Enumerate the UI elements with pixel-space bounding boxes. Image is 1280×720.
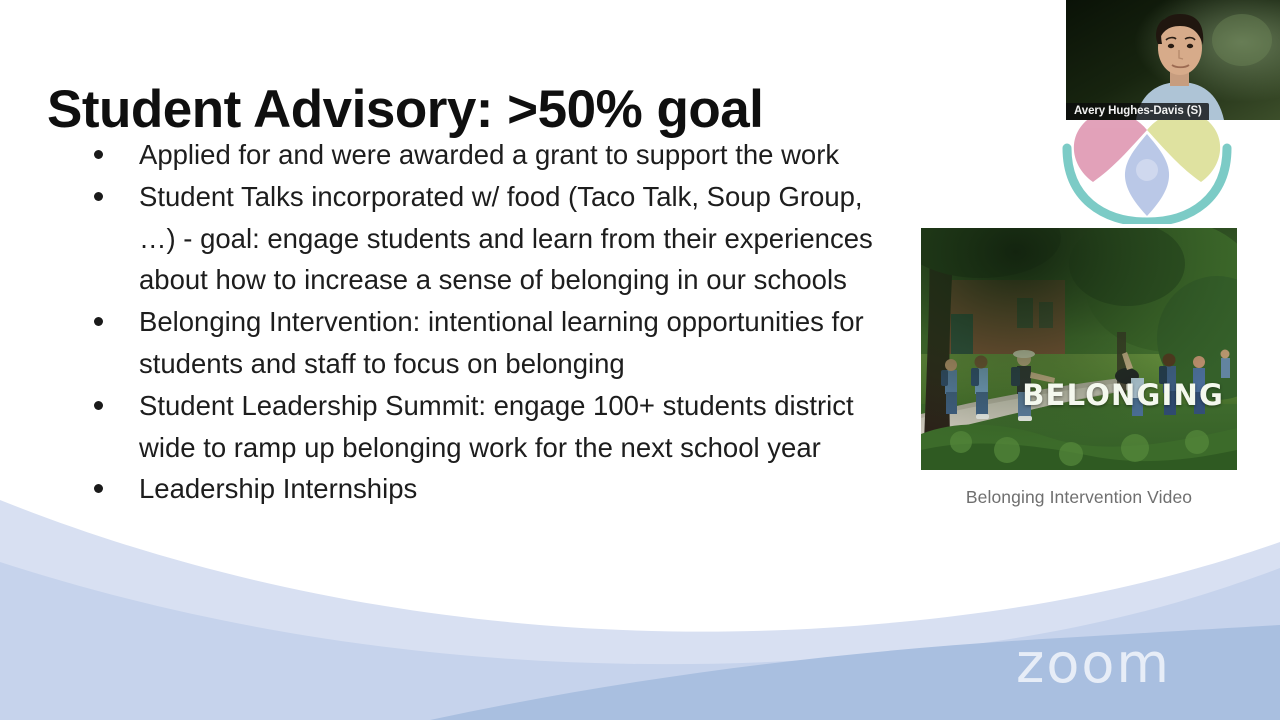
bullet-dot-icon — [94, 401, 103, 410]
list-item-text: Student Talks incorporated w/ food (Taco… — [139, 181, 873, 296]
list-item: Applied for and were awarded a grant to … — [86, 134, 886, 176]
participant-video-tile[interactable]: Avery Hughes-Davis (S) — [1066, 0, 1280, 120]
logo-lightbulb-icon — [1136, 159, 1158, 181]
bullet-dot-icon — [94, 317, 103, 326]
list-item-text: Leadership Internships — [139, 473, 417, 504]
belonging-video-figure[interactable]: BELONGING Belonging Intervention Video — [921, 228, 1237, 508]
bullet-dot-icon — [94, 192, 103, 201]
bullet-dot-icon — [94, 484, 103, 493]
list-item-text: Belonging Intervention: intentional lear… — [139, 306, 864, 379]
belonging-overlay-text: BELONGING — [1022, 378, 1224, 412]
belonging-video-thumbnail[interactable]: BELONGING — [921, 228, 1237, 470]
slide-title: Student Advisory: >50% goal — [47, 79, 763, 141]
list-item-text: Applied for and were awarded a grant to … — [139, 139, 839, 170]
participant-webcam-feed — [1066, 0, 1280, 120]
belonging-video-caption: Belonging Intervention Video — [921, 487, 1237, 508]
list-item-text: Student Leadership Summit: engage 100+ s… — [139, 390, 854, 463]
bullet-dot-icon — [94, 150, 103, 159]
zoom-screen-share-stage: Student Advisory: >50% goal Applied for … — [0, 0, 1280, 720]
district-venn-logo — [1041, 112, 1253, 224]
list-item: Leadership Internships — [86, 468, 886, 510]
zoom-watermark: zoom — [1016, 632, 1171, 695]
list-item: Student Leadership Summit: engage 100+ s… — [86, 385, 886, 469]
participant-name-label: Avery Hughes-Davis (S) — [1066, 103, 1209, 120]
list-item: Student Talks incorporated w/ food (Taco… — [86, 176, 886, 301]
list-item: Belonging Intervention: intentional lear… — [86, 301, 886, 385]
slide-bullet-list: Applied for and were awarded a grant to … — [86, 134, 886, 510]
campus-path-photo — [921, 228, 1237, 470]
